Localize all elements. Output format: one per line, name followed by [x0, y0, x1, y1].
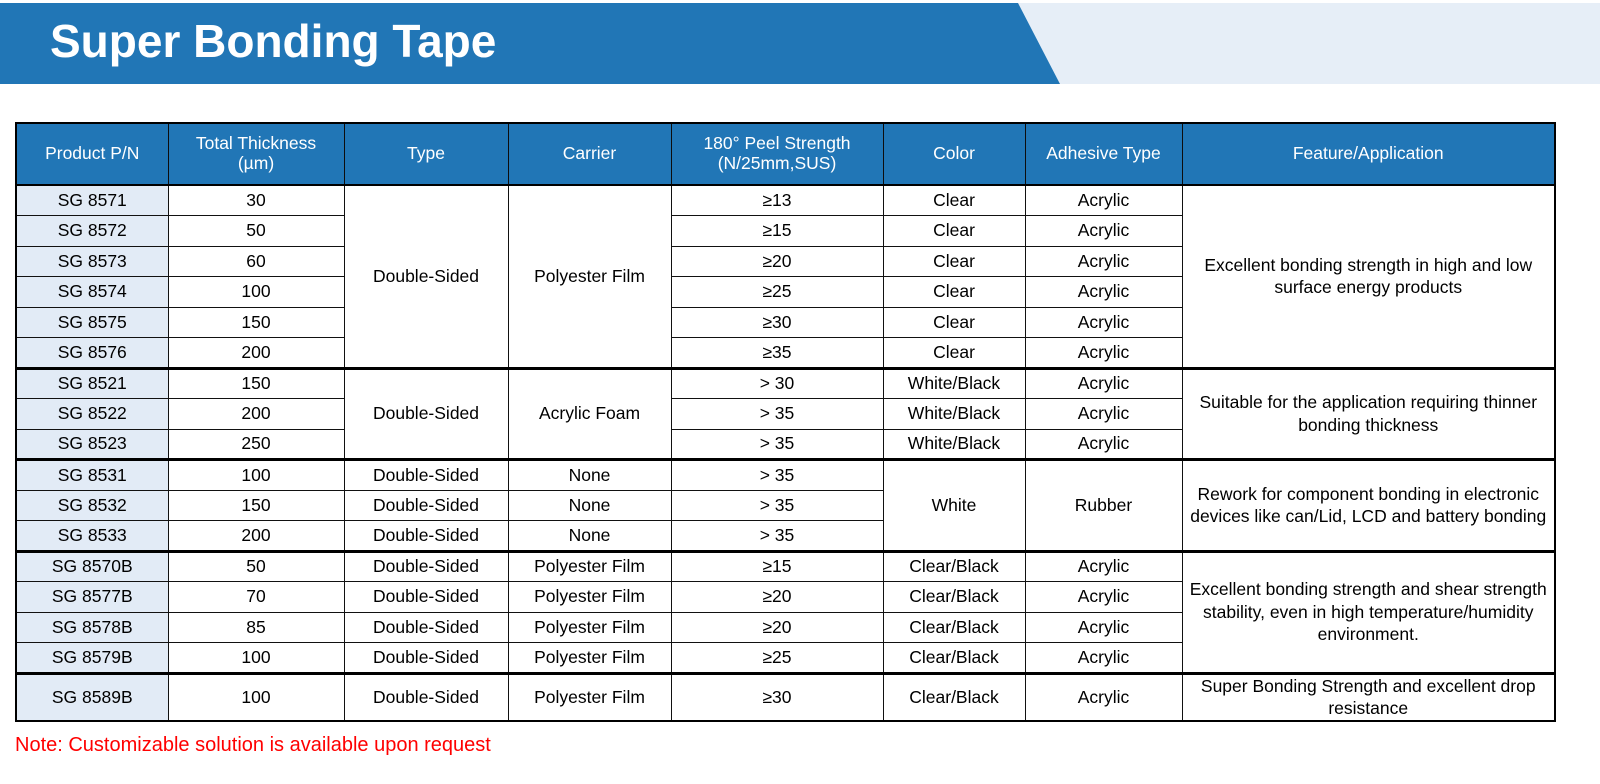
cell-total-thickness: 30: [168, 185, 344, 216]
cell-color: Clear: [883, 216, 1025, 247]
cell-total-thickness: 250: [168, 429, 344, 460]
cell-product-pn: SG 8523: [16, 429, 168, 460]
cell-peel-strength: > 35: [671, 460, 883, 491]
cell-product-pn: SG 8570B: [16, 551, 168, 582]
cell-carrier: Polyester Film: [508, 643, 671, 674]
cell-adhesive-type: Acrylic: [1025, 307, 1182, 338]
note-text: Note: Customizable solution is available…: [15, 734, 491, 757]
cell-peel-strength: ≥20: [671, 582, 883, 613]
column-header-type: Type: [344, 123, 508, 185]
page-banner: Super Bonding Tape: [0, 0, 1600, 88]
cell-peel-strength: ≥20: [671, 246, 883, 277]
table-row: SG 8589B100Double-SidedPolyester Film≥30…: [16, 673, 1555, 721]
table-header-row: Product P/N Total Thickness (µm) Type Ca…: [16, 123, 1555, 185]
product-spec-table: Product P/N Total Thickness (µm) Type Ca…: [15, 122, 1556, 722]
cell-peel-strength: ≥20: [671, 612, 883, 643]
table-row: SG 8570B50Double-SidedPolyester Film≥15C…: [16, 551, 1555, 582]
cell-adhesive-type: Acrylic: [1025, 673, 1182, 721]
cell-carrier: Polyester Film: [508, 551, 671, 582]
cell-carrier: Polyester Film: [508, 185, 671, 368]
cell-total-thickness: 50: [168, 216, 344, 247]
cell-type: Double-Sided: [344, 368, 508, 460]
cell-total-thickness: 200: [168, 521, 344, 552]
cell-adhesive-type: Acrylic: [1025, 399, 1182, 430]
table-row: SG 8531100Double-SidedNone> 35WhiteRubbe…: [16, 460, 1555, 491]
table-body: SG 857130Double-SidedPolyester Film≥13Cl…: [16, 185, 1555, 721]
cell-total-thickness: 150: [168, 368, 344, 399]
cell-carrier: None: [508, 521, 671, 552]
cell-peel-strength: ≥35: [671, 338, 883, 369]
cell-type: Double-Sided: [344, 643, 508, 674]
cell-total-thickness: 100: [168, 643, 344, 674]
cell-total-thickness: 60: [168, 246, 344, 277]
cell-feature-application: Super Bonding Strength and excellent dro…: [1182, 673, 1555, 721]
cell-adhesive-type: Acrylic: [1025, 429, 1182, 460]
cell-color: Clear: [883, 185, 1025, 216]
cell-peel-strength: ≥30: [671, 307, 883, 338]
cell-total-thickness: 100: [168, 673, 344, 721]
cell-product-pn: SG 8571: [16, 185, 168, 216]
cell-color: Clear/Black: [883, 673, 1025, 721]
cell-total-thickness: 100: [168, 277, 344, 308]
column-header-carrier: Carrier: [508, 123, 671, 185]
table-row: SG 8521150Double-SidedAcrylic Foam> 30Wh…: [16, 368, 1555, 399]
cell-carrier: Polyester Film: [508, 612, 671, 643]
cell-color: Clear: [883, 307, 1025, 338]
cell-type: Double-Sided: [344, 490, 508, 521]
table-row: SG 857130Double-SidedPolyester Film≥13Cl…: [16, 185, 1555, 216]
cell-product-pn: SG 8573: [16, 246, 168, 277]
cell-color: White: [883, 460, 1025, 552]
cell-color: Clear: [883, 277, 1025, 308]
column-header-adhesive-type: Adhesive Type: [1025, 123, 1182, 185]
cell-product-pn: SG 8521: [16, 368, 168, 399]
cell-adhesive-type: Acrylic: [1025, 185, 1182, 216]
cell-product-pn: SG 8576: [16, 338, 168, 369]
cell-color: Clear: [883, 338, 1025, 369]
column-header-product-pn: Product P/N: [16, 123, 168, 185]
cell-peel-strength: ≥25: [671, 643, 883, 674]
cell-total-thickness: 70: [168, 582, 344, 613]
cell-total-thickness: 85: [168, 612, 344, 643]
cell-peel-strength: > 35: [671, 490, 883, 521]
spec-table-container: Product P/N Total Thickness (µm) Type Ca…: [15, 122, 1554, 722]
cell-color: Clear/Black: [883, 612, 1025, 643]
cell-product-pn: SG 8522: [16, 399, 168, 430]
cell-color: Clear: [883, 246, 1025, 277]
cell-color: White/Black: [883, 368, 1025, 399]
cell-carrier: Acrylic Foam: [508, 368, 671, 460]
cell-adhesive-type: Acrylic: [1025, 612, 1182, 643]
cell-type: Double-Sided: [344, 582, 508, 613]
column-header-feature-application: Feature/Application: [1182, 123, 1555, 185]
cell-adhesive-type: Acrylic: [1025, 368, 1182, 399]
cell-peel-strength: ≥25: [671, 277, 883, 308]
cell-peel-strength: ≥30: [671, 673, 883, 721]
cell-product-pn: SG 8531: [16, 460, 168, 491]
cell-total-thickness: 200: [168, 338, 344, 369]
cell-carrier: Polyester Film: [508, 582, 671, 613]
cell-color: Clear/Black: [883, 551, 1025, 582]
cell-color: White/Black: [883, 429, 1025, 460]
cell-adhesive-type: Rubber: [1025, 460, 1182, 552]
cell-product-pn: SG 8575: [16, 307, 168, 338]
cell-carrier: Polyester Film: [508, 673, 671, 721]
cell-type: Double-Sided: [344, 612, 508, 643]
cell-carrier: None: [508, 460, 671, 491]
column-header-color: Color: [883, 123, 1025, 185]
cell-total-thickness: 200: [168, 399, 344, 430]
cell-product-pn: SG 8572: [16, 216, 168, 247]
table-header: Product P/N Total Thickness (µm) Type Ca…: [16, 123, 1555, 185]
cell-product-pn: SG 8532: [16, 490, 168, 521]
cell-adhesive-type: Acrylic: [1025, 582, 1182, 613]
cell-type: Double-Sided: [344, 551, 508, 582]
cell-product-pn: SG 8574: [16, 277, 168, 308]
cell-feature-application: Suitable for the application requiring t…: [1182, 368, 1555, 460]
cell-peel-strength: ≥13: [671, 185, 883, 216]
cell-product-pn: SG 8533: [16, 521, 168, 552]
cell-feature-application: Excellent bonding strength in high and l…: [1182, 185, 1555, 368]
cell-adhesive-type: Acrylic: [1025, 246, 1182, 277]
cell-feature-application: Rework for component bonding in electron…: [1182, 460, 1555, 552]
cell-peel-strength: > 35: [671, 429, 883, 460]
cell-product-pn: SG 8578B: [16, 612, 168, 643]
cell-total-thickness: 150: [168, 490, 344, 521]
cell-adhesive-type: Acrylic: [1025, 216, 1182, 247]
cell-peel-strength: > 35: [671, 521, 883, 552]
cell-adhesive-type: Acrylic: [1025, 551, 1182, 582]
cell-total-thickness: 150: [168, 307, 344, 338]
cell-color: Clear/Black: [883, 582, 1025, 613]
cell-peel-strength: > 35: [671, 399, 883, 430]
cell-peel-strength: ≥15: [671, 551, 883, 582]
cell-total-thickness: 50: [168, 551, 344, 582]
cell-feature-application: Excellent bonding strength and shear str…: [1182, 551, 1555, 673]
cell-type: Double-Sided: [344, 185, 508, 368]
cell-type: Double-Sided: [344, 673, 508, 721]
cell-color: White/Black: [883, 399, 1025, 430]
cell-color: Clear/Black: [883, 643, 1025, 674]
page-title: Super Bonding Tape: [50, 14, 496, 68]
column-header-total-thickness: Total Thickness (µm): [168, 123, 344, 185]
cell-adhesive-type: Acrylic: [1025, 277, 1182, 308]
cell-carrier: None: [508, 490, 671, 521]
cell-total-thickness: 100: [168, 460, 344, 491]
cell-type: Double-Sided: [344, 521, 508, 552]
cell-adhesive-type: Acrylic: [1025, 643, 1182, 674]
cell-product-pn: SG 8589B: [16, 673, 168, 721]
cell-peel-strength: > 30: [671, 368, 883, 399]
cell-adhesive-type: Acrylic: [1025, 338, 1182, 369]
column-header-peel-strength: 180° Peel Strength (N/25mm,SUS): [671, 123, 883, 185]
cell-peel-strength: ≥15: [671, 216, 883, 247]
cell-type: Double-Sided: [344, 460, 508, 491]
cell-product-pn: SG 8577B: [16, 582, 168, 613]
cell-product-pn: SG 8579B: [16, 643, 168, 674]
